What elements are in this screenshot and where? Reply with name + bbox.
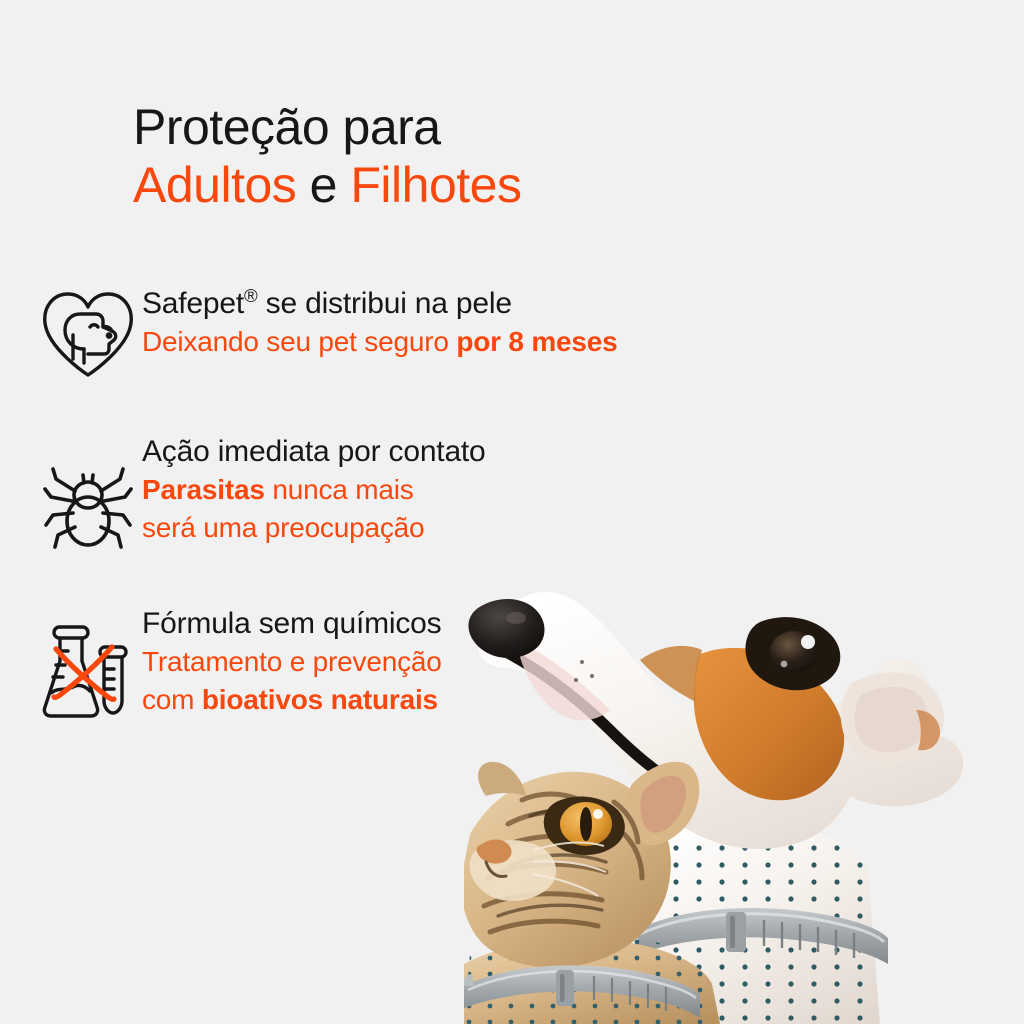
headline-adultos: Adultos xyxy=(133,157,296,213)
feature-title: Ação imediata por contato xyxy=(142,433,486,471)
feature-subtitle-line-2: com bioativos naturais xyxy=(142,681,442,719)
feature-title: Safepet® se distribui na pele xyxy=(142,285,618,323)
feature-text-block: Safepet® se distribui na pele Deixando s… xyxy=(142,285,618,361)
feature-item-no-chemicals: Fórmula sem químicos Tratamento e preven… xyxy=(34,605,874,721)
headline-line-2: Adultos e Filhotes xyxy=(133,156,521,214)
no-chemicals-flask-icon xyxy=(34,605,142,721)
feature-subtitle-bold: por 8 meses xyxy=(456,326,617,357)
feature-subtitle-line-1: Tratamento e prevenção xyxy=(142,643,442,681)
feature-item-skin-distribution: Safepet® se distribui na pele Deixando s… xyxy=(34,285,874,383)
page-title: Proteção para Adultos e Filhotes xyxy=(133,98,521,214)
feature-subtitle-bold: bioativos naturais xyxy=(202,684,438,715)
registered-trademark-icon: ® xyxy=(244,285,258,306)
tick-parasite-icon xyxy=(34,433,142,555)
feature-text-block: Ação imediata por contato Parasitas nunc… xyxy=(142,433,486,548)
dog-collar xyxy=(631,908,888,964)
feature-subtitle-line-2: será uma preocupação xyxy=(142,509,486,547)
poster-canvas: Proteção para Adultos e Filhotes Safepe xyxy=(0,0,1024,1024)
feature-subtitle-bold: Parasitas xyxy=(142,474,265,505)
feature-list: Safepet® se distribui na pele Deixando s… xyxy=(34,285,874,771)
feature-item-immediate-action: Ação imediata por contato Parasitas nunc… xyxy=(34,433,874,555)
cat-figure xyxy=(464,762,724,1024)
headline-filhotes: Filhotes xyxy=(350,157,521,213)
feature-text-block: Fórmula sem químicos Tratamento e preven… xyxy=(142,605,442,720)
heart-dog-icon xyxy=(34,285,142,383)
feature-subtitle-line-1: Deixando seu pet seguro por 8 meses xyxy=(142,323,618,361)
cat-collar xyxy=(464,965,700,1018)
feature-title: Fórmula sem químicos xyxy=(142,605,442,643)
feature-subtitle-line-1: Parasitas nunca mais xyxy=(142,471,486,509)
headline-line-1: Proteção para xyxy=(133,98,521,156)
headline-conjunction: e xyxy=(296,157,350,213)
